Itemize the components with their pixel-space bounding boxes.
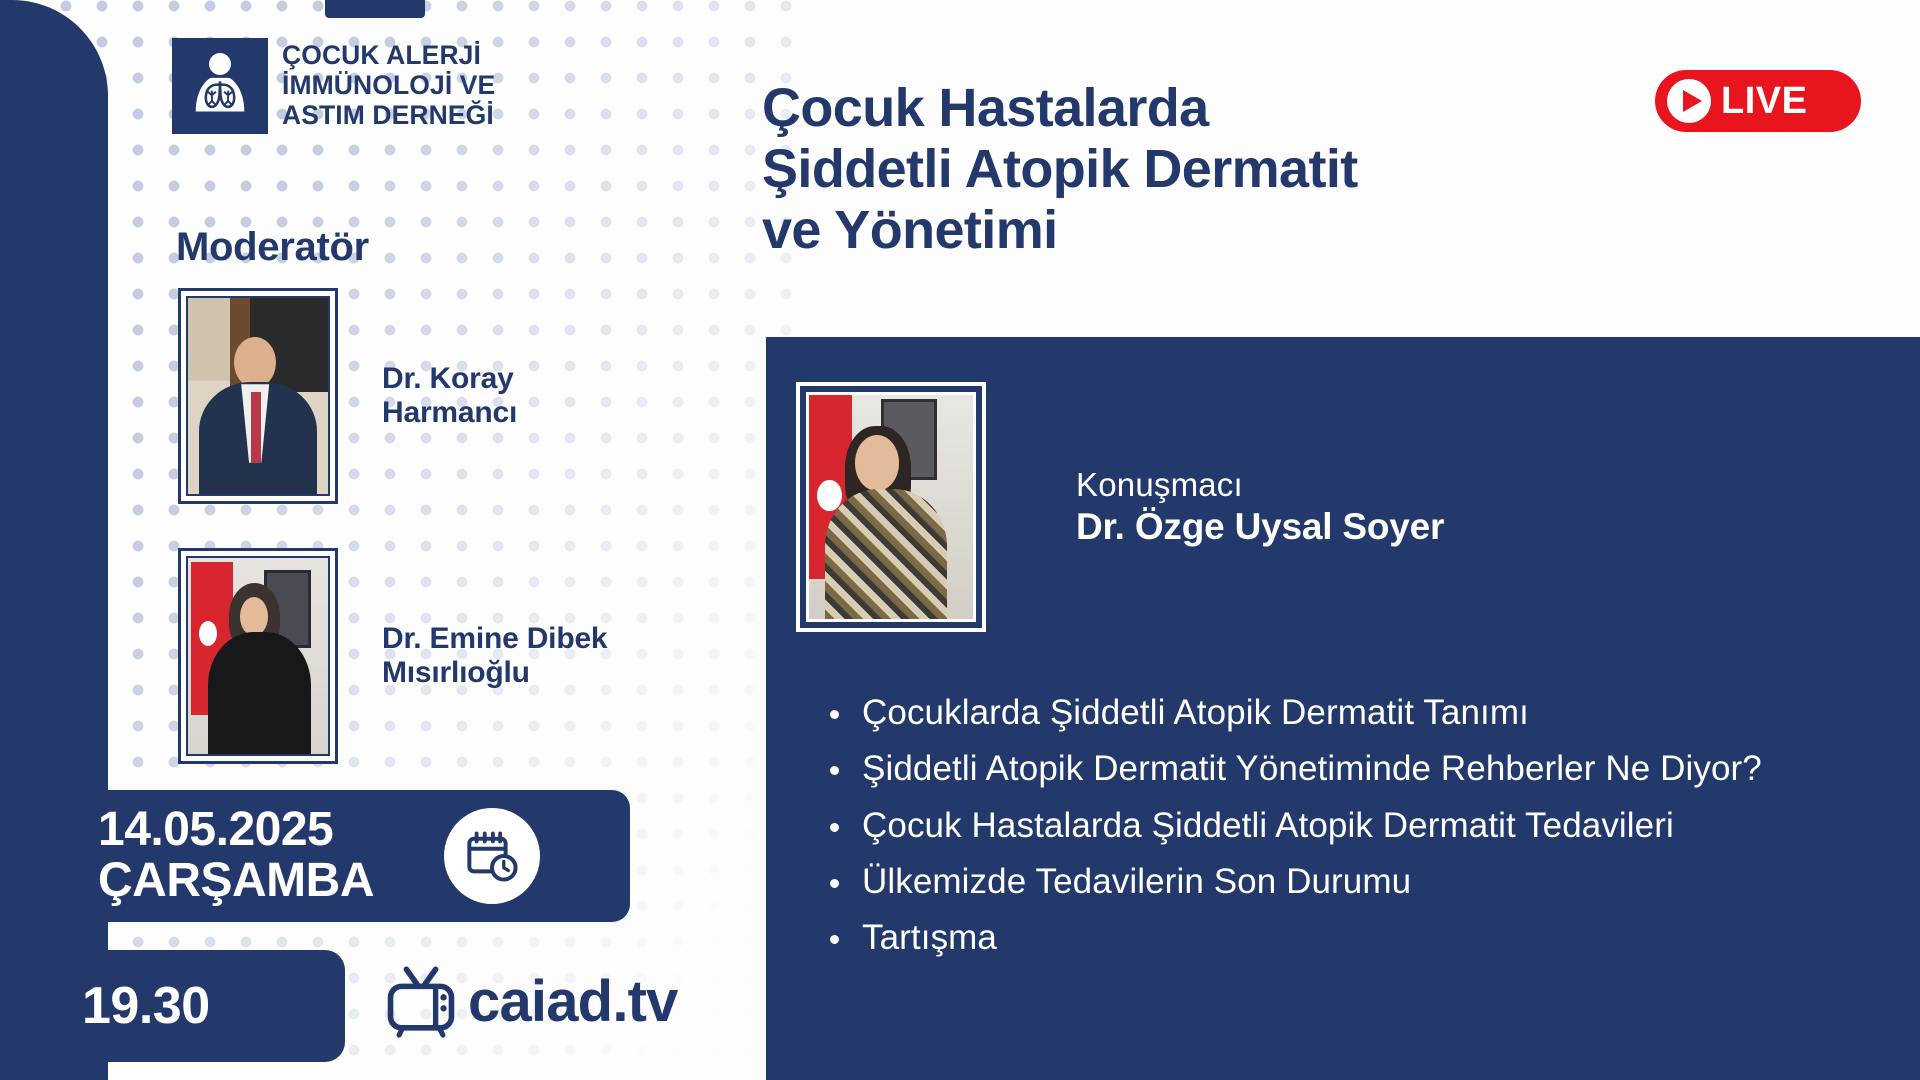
speaker-name: Dr. Özge Uysal Soyer	[1076, 504, 1444, 549]
moderator-name-2: Dr. Emine Dibek Mısırlıoğlu	[382, 622, 607, 689]
webinar-poster: ÇOCUK ALERJİ İMMÜNOLOJİ VE ASTIM DERNEĞİ…	[0, 0, 1920, 1080]
calendar-clock-icon	[444, 808, 540, 904]
date-badge: 14.05.2025 ÇARŞAMBA	[72, 790, 630, 922]
live-badge[interactable]: LIVE	[1655, 70, 1861, 132]
page-title: Çocuk Hastalarda Şiddetli Atopik Dermati…	[762, 78, 1622, 261]
portrait-koray-harmanci	[188, 298, 328, 494]
time-text: 19.30	[82, 976, 210, 1036]
live-label: LIVE	[1721, 80, 1807, 123]
moderator-heading: Moderatör	[176, 225, 369, 270]
moderator-photo-frame-1	[178, 288, 338, 504]
play-icon	[1667, 79, 1711, 123]
channel-block[interactable]: caiad.tv	[382, 962, 678, 1040]
time-badge: 19.30	[0, 950, 345, 1062]
list-item: Şiddetli Atopik Dermatit Yönetiminde Reh…	[824, 745, 1874, 793]
portrait-ozge-uysal-soyer	[809, 395, 973, 619]
lungs-person-icon	[172, 38, 268, 134]
moderator-item-2: Dr. Emine Dibek Mısırlıoğlu	[178, 548, 607, 764]
speaker-photo-frame	[796, 382, 986, 632]
list-item: Tartışma	[824, 914, 1874, 962]
tv-icon	[382, 962, 460, 1040]
speaker-role: Konuşmacı	[1076, 465, 1444, 505]
association-name: ÇOCUK ALERJİ İMMÜNOLOJİ VE ASTIM DERNEĞİ	[282, 41, 495, 130]
portrait-emine-dibek-misirlioglu	[188, 558, 328, 754]
moderator-name-1: Dr. Koray Harmancı	[382, 362, 517, 429]
list-item: Çocuklarda Şiddetli Atopik Dermatit Tanı…	[824, 689, 1874, 737]
date-text: 14.05.2025 ÇARŞAMBA	[98, 805, 374, 907]
list-item: Ülkemizde Tedavilerin Son Durumu	[824, 858, 1874, 906]
top-navy-tab	[325, 0, 425, 18]
moderator-item-1: Dr. Koray Harmancı	[178, 288, 517, 504]
content-panel: Konuşmacı Dr. Özge Uysal Soyer Çocuklard…	[766, 337, 1920, 1080]
list-item: Çocuk Hastalarda Şiddetli Atopik Dermati…	[824, 802, 1874, 850]
channel-name: caiad.tv	[468, 968, 678, 1035]
association-logo: ÇOCUK ALERJİ İMMÜNOLOJİ VE ASTIM DERNEĞİ	[172, 38, 495, 134]
speaker-block: Konuşmacı Dr. Özge Uysal Soyer	[796, 382, 1444, 632]
topic-list: Çocuklarda Şiddetli Atopik Dermatit Tanı…	[824, 689, 1874, 970]
moderator-photo-frame-2	[178, 548, 338, 764]
